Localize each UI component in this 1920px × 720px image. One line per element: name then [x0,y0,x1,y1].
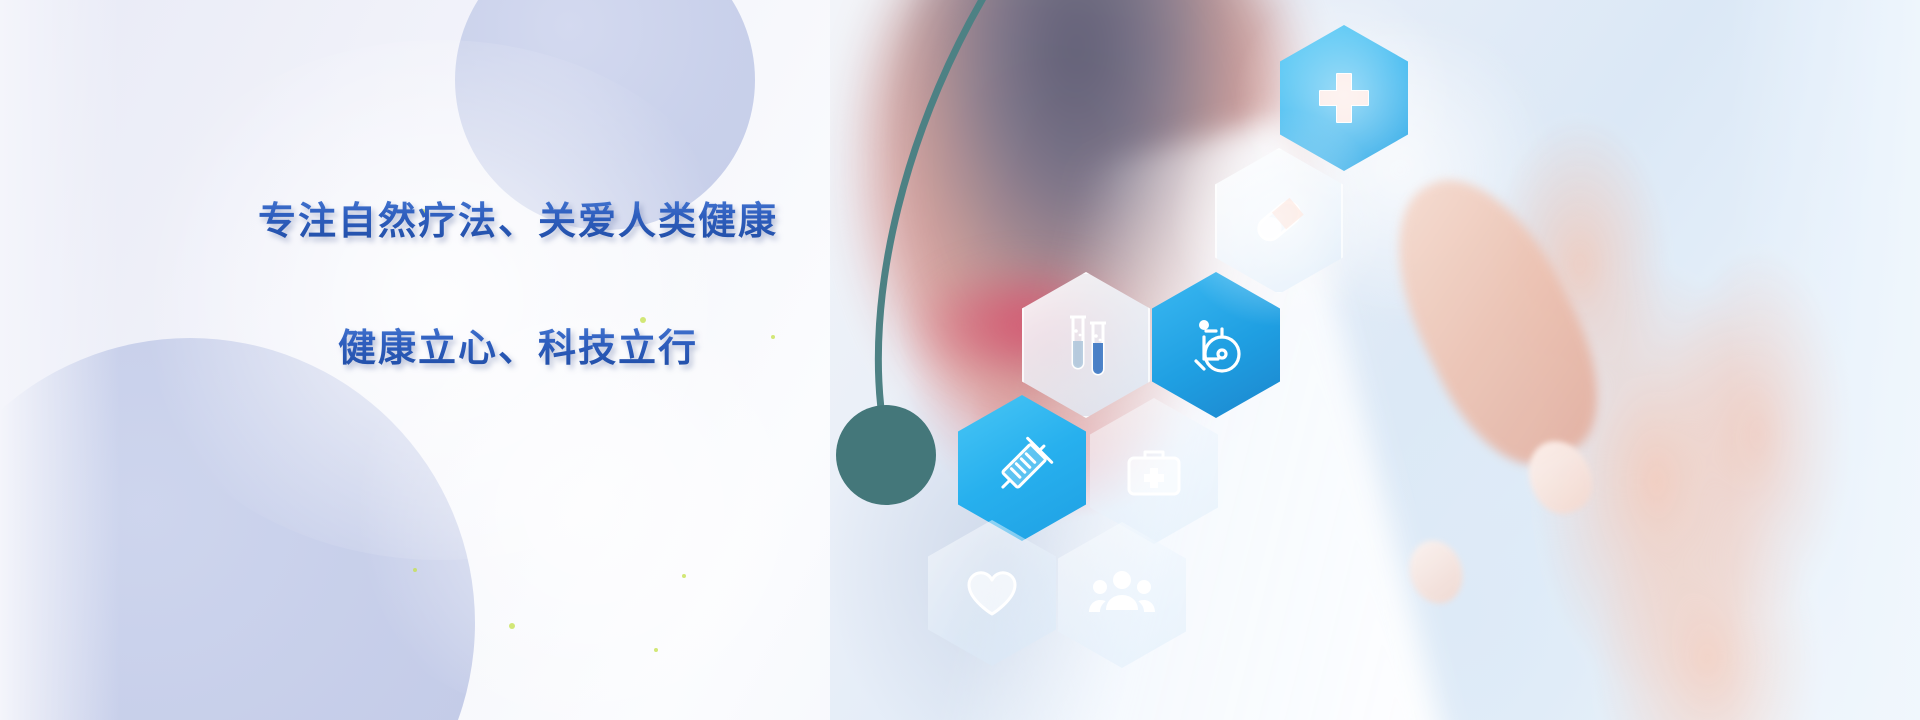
headline-line-2: 健康立心、科技立行 [338,317,898,372]
test-tubes-icon [1050,309,1122,381]
hexagon-tile-people-group[interactable] [1058,522,1186,668]
first-aid-kit-icon [1121,438,1187,504]
syringe-icon [985,431,1059,505]
hero-banner: 专注自然疗法、关爱人类健康 健康立心、科技立行 [0,0,1920,720]
people-group-icon [1087,560,1157,630]
hexagon-tile-test-tubes[interactable] [1022,272,1150,418]
hexagon-tile-first-aid-kit[interactable] [1090,398,1218,544]
headline-block: 专注自然疗法、关爱人类健康 健康立心、科技立行 [258,190,898,372]
heart-icon [961,562,1023,624]
hexagon-glow-ring [1169,108,1389,328]
hexagon-tile-heart[interactable] [928,520,1056,666]
wheelchair-icon [1182,311,1250,379]
hexagon-tile-syringe[interactable] [958,395,1086,541]
headline-line-1: 专注自然疗法、关爱人类健康 [258,190,898,245]
